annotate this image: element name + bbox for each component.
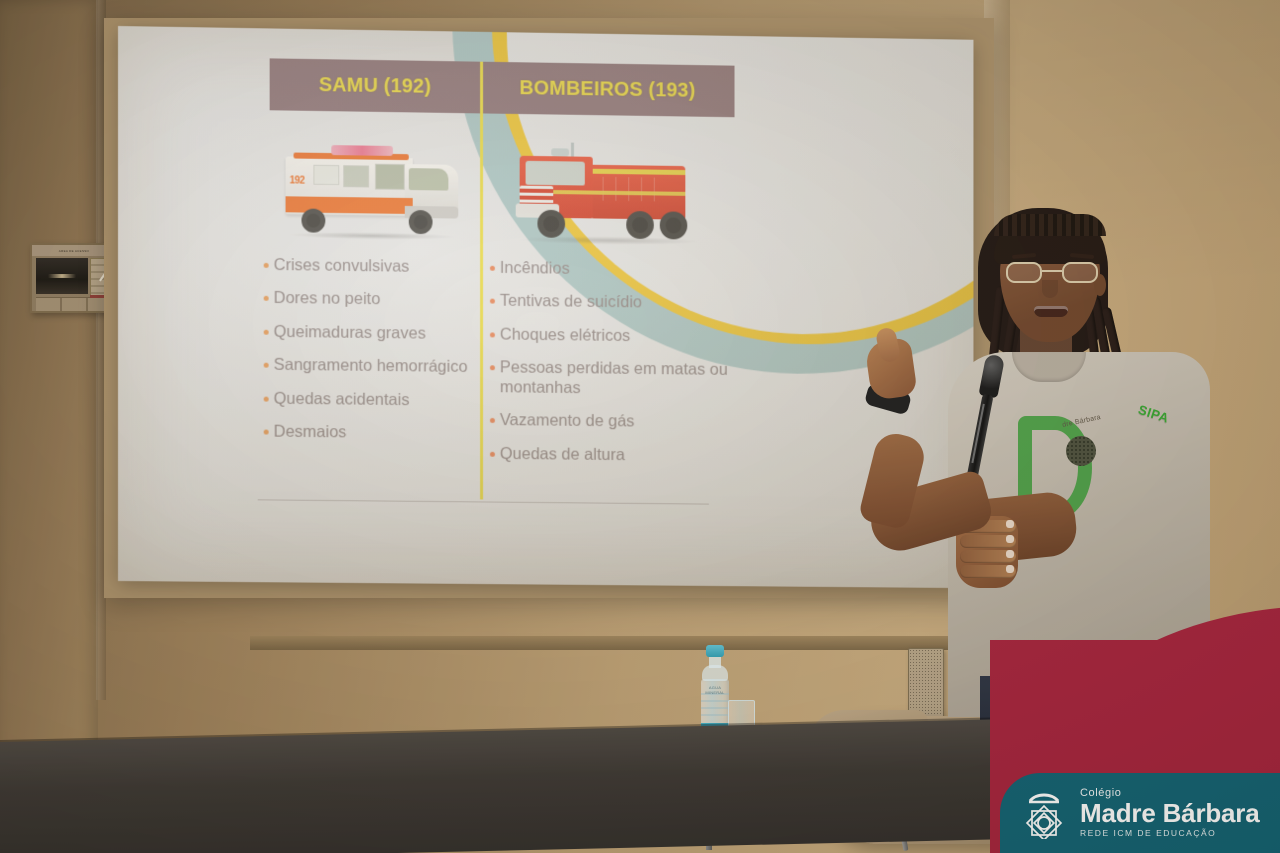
ambulance-lightbar xyxy=(331,145,393,156)
list-item-label: Sangramento hemorrágico xyxy=(274,356,468,378)
shirt-graphic-text-top: dre Bárbara xyxy=(1062,414,1102,429)
bullet-dot-icon xyxy=(264,396,269,401)
list-item: Sangramento hemorrágico xyxy=(264,356,480,378)
list-item-label: Incêndios xyxy=(500,259,570,279)
list-item: Tentivas de suicídio xyxy=(490,292,736,314)
list-item-label: Quedas de altura xyxy=(500,445,625,466)
presenter-hair-part xyxy=(994,214,1106,236)
presenter-mouth xyxy=(1034,306,1068,317)
brand-name: Madre Bárbara xyxy=(1080,799,1259,827)
list-item-label: Vazamento de gás xyxy=(500,411,635,432)
truck-wheel xyxy=(537,210,565,238)
lens xyxy=(1006,262,1042,283)
ambulance-number: 192 xyxy=(290,176,305,186)
list-item-label: Quedas acidentais xyxy=(274,390,410,411)
column-header-samu: SAMU (192) xyxy=(270,58,480,113)
list-item: Queimaduras graves xyxy=(264,323,480,345)
bullet-list-samu: Crises convulsivas Dores no peito Queima… xyxy=(264,256,480,445)
list-item-label: Crises convulsivas xyxy=(274,256,410,277)
fingernail xyxy=(1006,565,1014,573)
column-divider xyxy=(480,62,483,500)
ambulance-photo: 192 xyxy=(264,124,480,249)
list-item: Dores no peito xyxy=(264,289,480,311)
list-item-label: Pessoas perdidas em matas ou montanhas xyxy=(500,359,737,400)
bullet-dot-icon xyxy=(490,299,495,304)
list-item-label: Tentivas de suicídio xyxy=(500,292,642,313)
bottle-cap xyxy=(706,645,724,657)
bullet-dot-icon xyxy=(490,332,495,337)
list-item-label: Dores no peito xyxy=(274,289,381,310)
slide-footer-rule xyxy=(258,499,709,504)
glasses-bridge xyxy=(1042,270,1062,272)
brand-tagline: REDE ICM DE EDUCAÇÃO xyxy=(1080,828,1259,838)
presenter-nose xyxy=(1042,280,1058,298)
bullet-dot-icon xyxy=(264,296,269,301)
column-samu: 192 Crises convulsivas Dores no peito xyxy=(264,124,480,458)
shirt-graphic-rosette xyxy=(1066,436,1096,466)
bullet-dot-icon xyxy=(264,430,269,435)
ambulance-wheel xyxy=(409,210,433,234)
bullet-dot-icon xyxy=(264,263,269,268)
bottle-label-text: AGUA MINERAL xyxy=(703,685,727,695)
ambulance-wheel xyxy=(301,208,325,232)
truck-lightbar xyxy=(551,148,569,156)
bottle-neck xyxy=(709,656,721,668)
slide-content: SAMU (192) BOMBEIROS (193) xyxy=(118,26,973,588)
auditorium-scene: AREA DE ACESSO SAMU (192) BOMBEIROS (193… xyxy=(0,0,1280,853)
bullet-dot-icon xyxy=(490,418,495,423)
truck-wheel xyxy=(660,211,688,239)
ambulance-window xyxy=(375,164,405,190)
lens xyxy=(1062,262,1098,283)
bullet-dot-icon xyxy=(490,266,495,271)
school-emblem-icon xyxy=(1018,787,1070,839)
bullet-dot-icon xyxy=(490,452,495,457)
bullet-dot-icon xyxy=(490,366,495,371)
bullet-list-bombeiros: Incêndios Tentivas de suicídio Choques e… xyxy=(490,259,736,467)
projection-screen: SAMU (192) BOMBEIROS (193) xyxy=(118,26,973,588)
ambulance-window xyxy=(343,165,369,187)
list-item: Quedas de altura xyxy=(490,445,736,467)
slide-header-bar: SAMU (192) BOMBEIROS (193) xyxy=(270,58,735,117)
ambulance-shadow xyxy=(288,231,457,240)
brand-prefix: Colégio xyxy=(1080,788,1259,799)
wall-notice-photo xyxy=(36,258,88,294)
list-item: Choques elétricos xyxy=(490,325,736,347)
truck-wheel xyxy=(626,211,654,239)
list-item: Crises convulsivas xyxy=(264,256,480,278)
ambulance-window xyxy=(313,165,339,185)
bullet-dot-icon xyxy=(264,330,269,335)
list-item: Desmaios xyxy=(264,423,480,445)
list-item-label: Choques elétricos xyxy=(500,326,630,347)
list-item: Pessoas perdidas em matas ou montanhas xyxy=(490,359,736,400)
fingernail xyxy=(1006,550,1014,558)
finger xyxy=(960,550,1016,563)
brand-text: Colégio Madre Bárbara REDE ICM DE EDUCAÇ… xyxy=(1080,788,1259,837)
presenter: dre Bárbara ICA SIPA xyxy=(860,196,1210,716)
list-item: Vazamento de gás xyxy=(490,411,736,433)
list-item: Incêndios xyxy=(490,259,736,281)
bottle-ribs xyxy=(701,693,729,721)
wall-panel-left xyxy=(0,0,98,760)
truck-windshield xyxy=(526,161,585,186)
column-header-bombeiros: BOMBEIROS (193) xyxy=(480,62,734,118)
bullet-dot-icon xyxy=(264,363,269,368)
finger xyxy=(960,535,1016,548)
truck-lockers xyxy=(603,177,658,202)
fire-truck-photo xyxy=(490,127,736,252)
column-bombeiros: Incêndios Tentivas de suicídio Choques e… xyxy=(490,127,736,480)
fingernail xyxy=(1006,520,1014,528)
ambulance-windshield xyxy=(409,168,449,190)
brand-banner: Colégio Madre Bárbara REDE ICM DE EDUCAÇ… xyxy=(1000,773,1280,853)
finger xyxy=(960,565,1016,578)
list-item: Quedas acidentais xyxy=(264,389,480,411)
list-item-label: Desmaios xyxy=(274,423,347,443)
fingernail xyxy=(1006,535,1014,543)
list-item-label: Queimaduras graves xyxy=(274,323,426,344)
